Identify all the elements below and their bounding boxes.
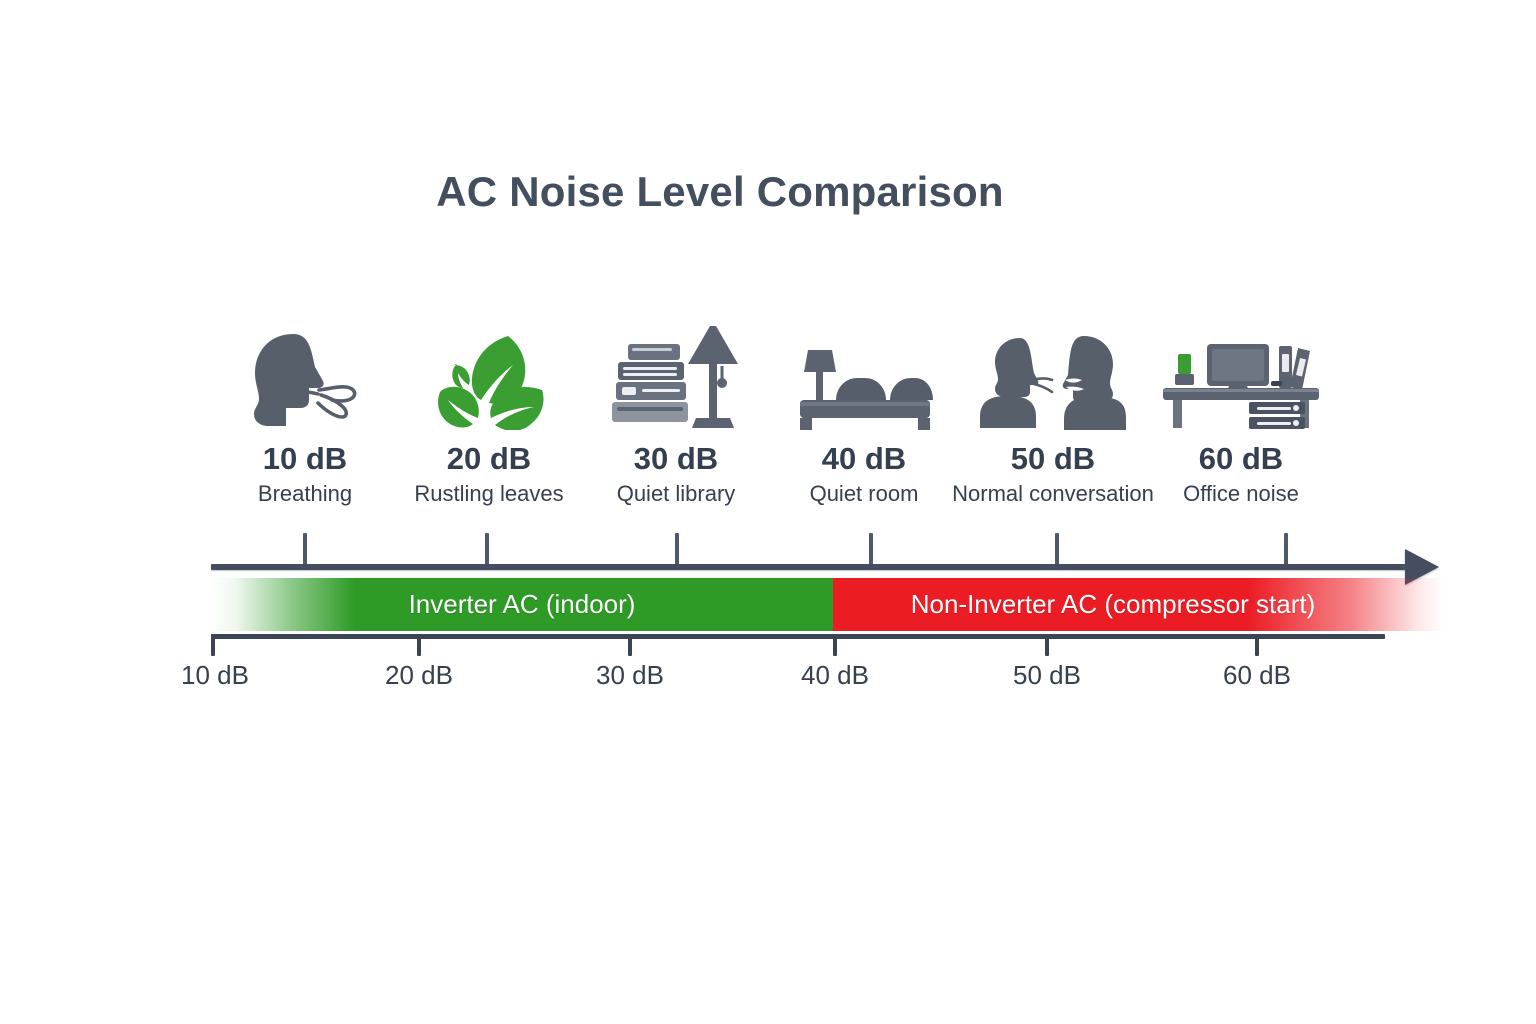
db-value: 60 dB <box>1131 443 1351 476</box>
db-label: Quiet room <box>754 482 974 506</box>
bottom-axis-label: 50 dB <box>957 660 1137 691</box>
top-axis-line <box>211 564 1408 570</box>
db-value: 40 dB <box>754 443 974 476</box>
bottom-axis-label: 40 dB <box>745 660 925 691</box>
bottom-axis-line <box>211 634 1385 639</box>
band-label-non-inverter: Non-Inverter AC (compressor start) <box>833 578 1393 631</box>
scale-item-normal-conversation: 50 dB Normal conversation <box>943 325 1163 506</box>
bottom-axis-tick <box>628 634 632 656</box>
noise-band: Inverter AC (indoor) Non-Inverter AC (co… <box>211 578 1443 631</box>
top-axis-tick <box>675 533 679 565</box>
scale-item-quiet-room: 40 dB Quiet room <box>754 325 974 506</box>
page-title: AC Noise Level Comparison <box>0 168 1488 216</box>
db-value: 30 dB <box>566 443 786 476</box>
conversation-icon <box>943 325 1163 430</box>
db-value: 50 dB <box>943 443 1163 476</box>
band-label-inverter: Inverter AC (indoor) <box>211 578 833 631</box>
top-axis-tick <box>303 533 307 565</box>
db-label: Normal conversation <box>943 482 1163 506</box>
bottom-axis-label: 20 dB <box>329 660 509 691</box>
bottom-axis-tick <box>211 634 215 656</box>
db-label: Office noise <box>1131 482 1351 506</box>
books-lamp-icon <box>566 325 786 430</box>
scale-item-quiet-library: 30 dB Quiet library <box>566 325 786 506</box>
bottom-axis-label: 60 dB <box>1167 660 1347 691</box>
bed-icon <box>754 325 974 430</box>
top-axis-tick <box>1284 533 1288 565</box>
top-axis-tick <box>485 533 489 565</box>
bottom-axis-tick <box>833 634 837 656</box>
scale-items: 10 dB Breathing 20 dB Rustling leaves <box>211 325 1423 525</box>
infographic-canvas: AC Noise Level Comparison 10 dB Breathin… <box>0 0 1536 1024</box>
bottom-axis-tick <box>417 634 421 656</box>
bottom-axis-tick <box>1255 634 1259 656</box>
top-axis-tick <box>869 533 873 565</box>
bottom-axis-label: 30 dB <box>540 660 720 691</box>
scale-item-office-noise: 60 dB Office noise <box>1131 325 1351 506</box>
bottom-axis-tick <box>1045 634 1049 656</box>
top-axis-tick <box>1055 533 1059 565</box>
bottom-axis-label: 10 dB <box>125 660 305 691</box>
office-desk-icon <box>1131 325 1351 430</box>
db-label: Quiet library <box>566 482 786 506</box>
